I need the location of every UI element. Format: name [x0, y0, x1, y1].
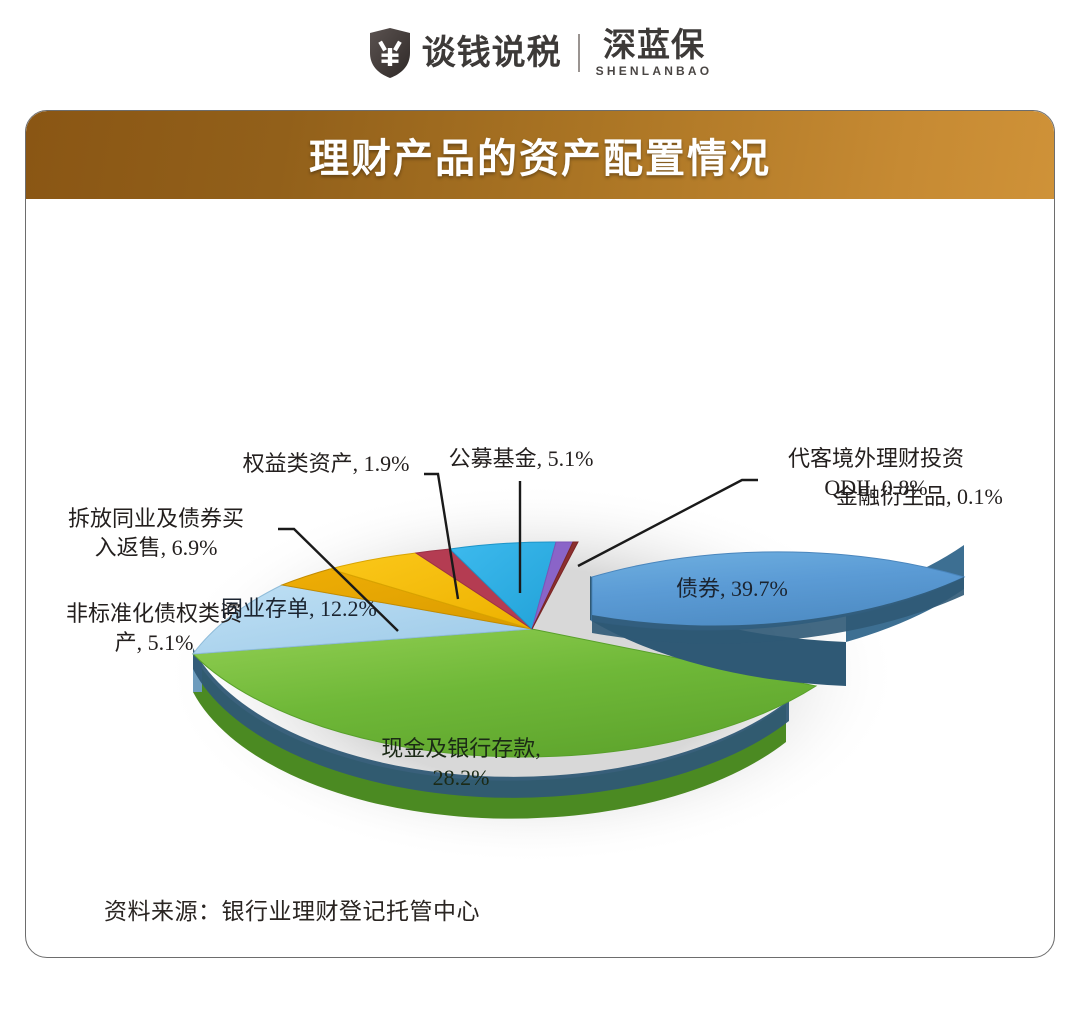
label-cash-inner: 现金及银行存款, 28.2%: [336, 734, 586, 792]
card-header: 理财产品的资产配置情况: [26, 111, 1054, 199]
page-title: 理财产品的资产配置情况: [309, 126, 771, 184]
brand-divider: [578, 34, 580, 72]
shield-yen-icon: [368, 27, 412, 79]
label-equity: 权益类资产, 1.9%: [226, 449, 426, 478]
label-bond-inner: 债券, 39.7%: [676, 574, 788, 603]
brand-secondary: 深蓝保 SHENLANBAO: [596, 28, 713, 77]
label-derivative: 金融衍生品, 0.1%: [836, 482, 1003, 511]
brand-name-secondary-cn: 深蓝保: [603, 28, 705, 61]
label-publicfund: 公募基金, 5.1%: [416, 444, 626, 473]
label-interbank: 拆放同业及债券买 入返售, 6.9%: [36, 504, 276, 562]
pie-chart-svg: [26, 199, 1054, 958]
brand-name-primary: 谈钱说税: [422, 36, 562, 70]
brand-name-secondary-en: SHENLANBAO: [596, 65, 713, 77]
brand-logo-row: 谈钱说税 深蓝保 SHENLANBAO: [0, 0, 1080, 105]
pie-chart-area: 权益类资产, 1.9% 公募基金, 5.1% 代客境外理财投资 QDII, 0.…: [26, 199, 1054, 958]
source-note: 资料来源：银行业理财登记托管中心: [104, 892, 480, 926]
chart-card: 理财产品的资产配置情况: [25, 110, 1055, 958]
label-cd-inner: 同业存单, 12.2%: [221, 594, 377, 623]
